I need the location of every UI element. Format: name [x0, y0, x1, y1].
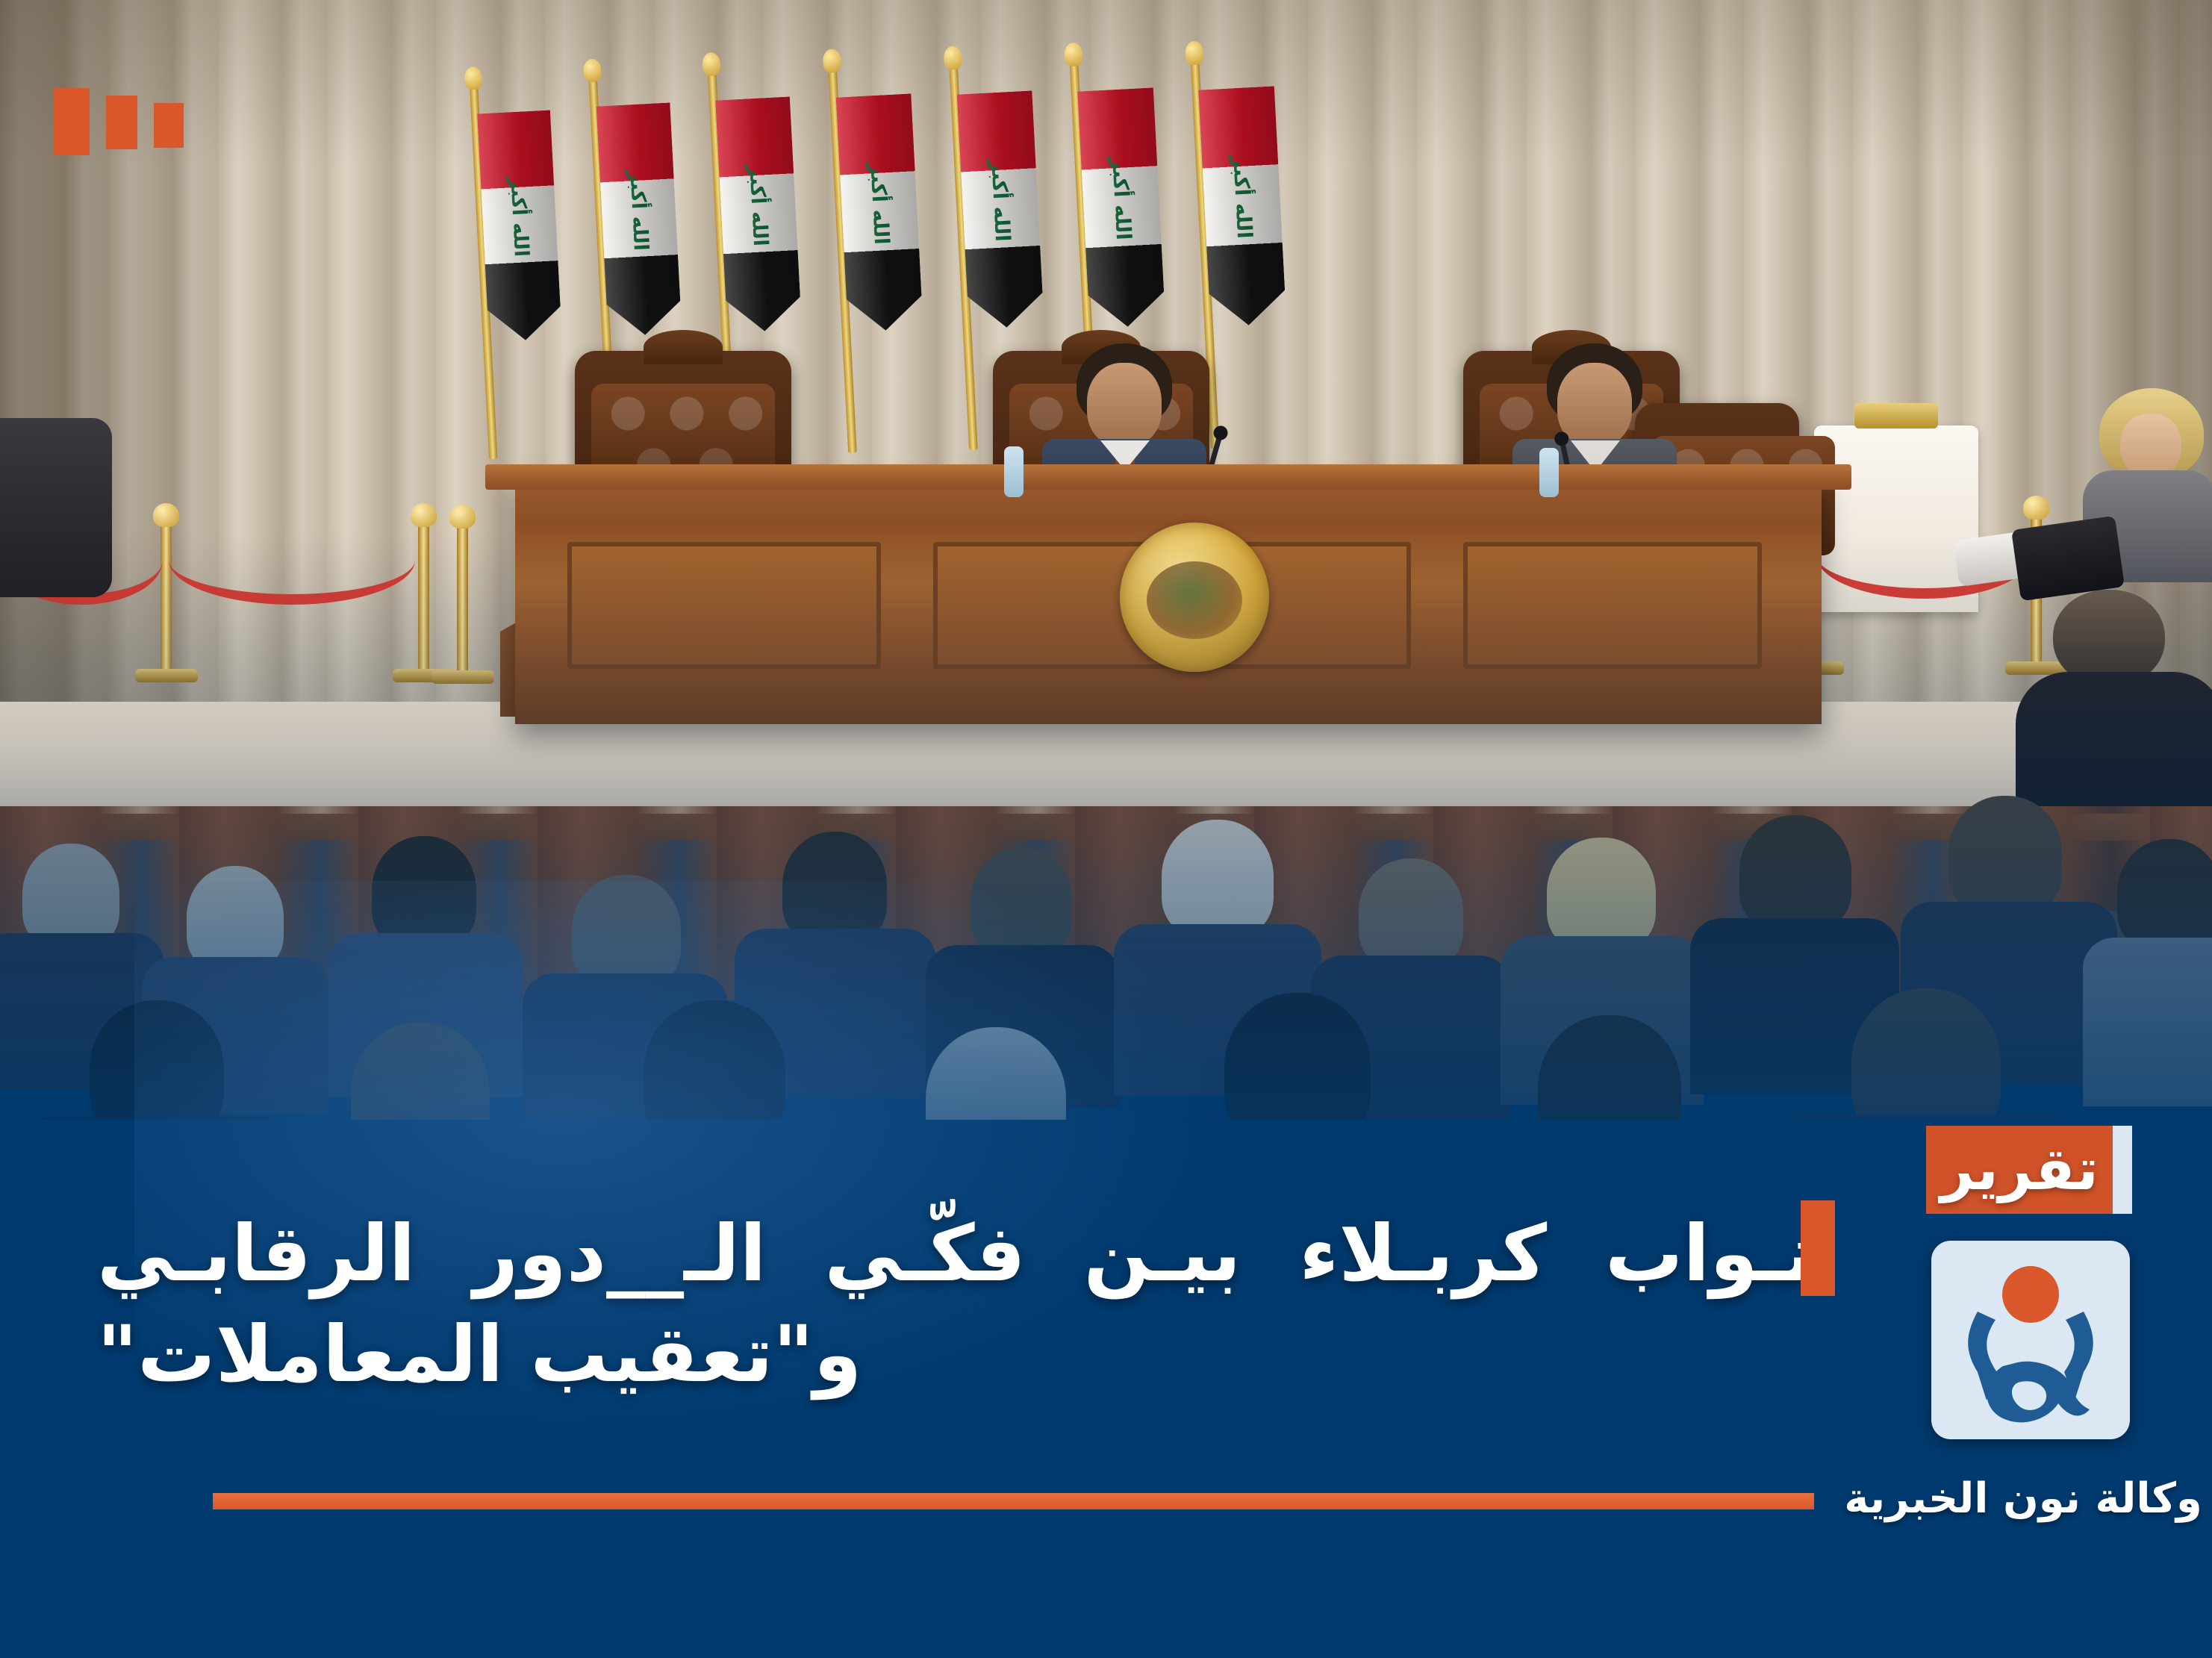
headline-accent-bar	[1801, 1200, 1835, 1296]
bottom-divider	[213, 1493, 1814, 1509]
water-bottle	[1004, 446, 1024, 497]
decor-tick-medium	[106, 96, 137, 149]
flag-shading	[715, 96, 802, 333]
report-badge-label: تقرير	[1940, 1141, 2099, 1199]
flag-shading	[836, 93, 923, 332]
iraq-flag	[1077, 87, 1165, 328]
iraq-flag	[715, 96, 802, 333]
headline-line-2: و"تعقيب المعاملات"	[97, 1304, 1814, 1405]
person-head	[1087, 363, 1162, 446]
logo-head-circle	[2002, 1266, 2059, 1323]
person-head	[2120, 414, 2181, 478]
iraq-flag	[1198, 86, 1286, 327]
water-bottle	[1539, 448, 1559, 497]
top-left-decor-ticks	[54, 88, 184, 155]
headline-line-1: نـواب كربـلاء بيـن فكّـي الـ__دور الرقاب…	[97, 1203, 1814, 1304]
decor-tick-tall	[54, 88, 90, 155]
headline: نـواب كربـلاء بيـن فكّـي الـ__دور الرقاب…	[97, 1203, 1814, 1405]
noon-news-agency-logo[interactable]	[1931, 1241, 2130, 1439]
flag-shading	[477, 110, 562, 342]
iraq-flag	[836, 93, 923, 332]
report-badge: تقرير	[1926, 1126, 2113, 1214]
person-head	[1557, 363, 1632, 446]
chair-crest	[644, 330, 723, 364]
flag-shading	[957, 90, 1044, 329]
news-card: نـواب كربـلاء بيـن فكّـي الـ__دور الرقاب…	[0, 0, 2212, 1658]
iraq-flag	[957, 90, 1044, 329]
decor-tick-short	[154, 103, 184, 148]
bench-top-rail	[485, 464, 1851, 490]
iraq-flag	[596, 102, 682, 337]
flag-shading	[1198, 86, 1286, 327]
agency-name: وكالة نون الخبرية	[1844, 1474, 2202, 1523]
report-badge-strip	[2113, 1126, 2132, 1214]
iraq-flag	[477, 110, 562, 342]
flag-shading	[1077, 87, 1165, 328]
flag-shading	[596, 102, 682, 337]
